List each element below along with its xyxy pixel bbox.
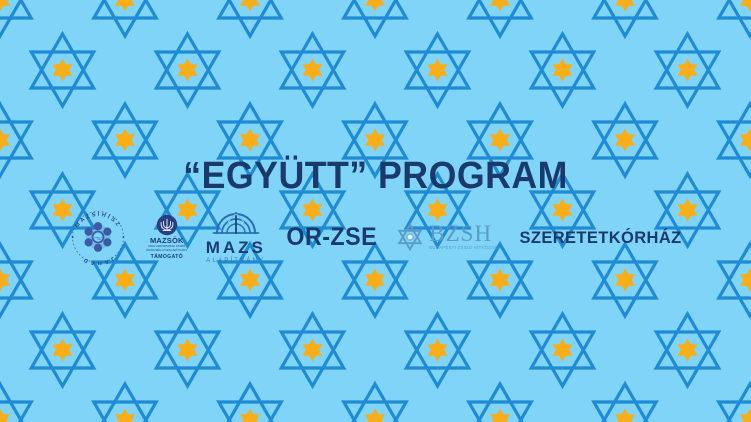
bzsh-subtitle: BUDAPESTI ZSIDÓ HITKÖZSÉG (429, 246, 501, 250)
mazs-wordmark: MAZS (206, 239, 266, 256)
mazs-dome-emblem-icon (211, 211, 261, 237)
mazsok-wordmark: MAZSÖK (150, 237, 184, 245)
logo-szeretetkorhaz: SZERETETKÓRHÁZ (517, 209, 684, 265)
szeretetkorhaz-wordmark: SZERETETKÓRHÁZ (520, 229, 682, 246)
logo-mazsok: MAZSÖK MAGYARORSZÁGI ZSIDÓ ÖRÖKSÉG KÖZAL… (145, 209, 189, 265)
logo-mazsihisz-jahad: שדי MAZSIHISZ JAHAD (67, 209, 129, 265)
mazs-subtitle: ALAPÍTVÁNY (206, 258, 265, 264)
seal-arc-bottom-text: JAHAD (81, 255, 115, 265)
mazsok-footer-text: TÁMOGATÓ (151, 254, 183, 260)
bzsh-wordmark: BZSH (429, 223, 501, 245)
or-zse-wordmark: OR-ZSE (286, 225, 377, 250)
banner-content: “EGYÜTT” PROGRAM (0, 0, 751, 422)
svg-text:JAHAD: JAHAD (81, 255, 115, 265)
mazsihisz-seal-graphic: שדי MAZSIHISZ JAHAD (67, 209, 129, 265)
logo-mazs-alapitvany: MAZS ALAPÍTVÁNY (205, 209, 267, 265)
logo-or-zse: OR-ZSE (283, 209, 380, 265)
egyutt-program-banner: “EGYÜTT” PROGRAM (0, 0, 751, 422)
mazsok-subtitle: MAGYARORSZÁGI ZSIDÓ ÖRÖKSÉG KÖZALAPÍTVÁN… (145, 245, 189, 252)
partner-logo-strip: שדי MAZSIHISZ JAHAD (67, 209, 684, 265)
mazsok-menorah-emblem-icon (156, 214, 178, 236)
page-title: “EGYÜTT” PROGRAM (183, 157, 568, 195)
bzsh-star-of-david-icon (396, 223, 424, 251)
svg-text:שדי: שדי (94, 236, 102, 242)
logo-bzsh: BZSH BUDAPESTI ZSIDÓ HITKÖZSÉG (396, 209, 501, 265)
